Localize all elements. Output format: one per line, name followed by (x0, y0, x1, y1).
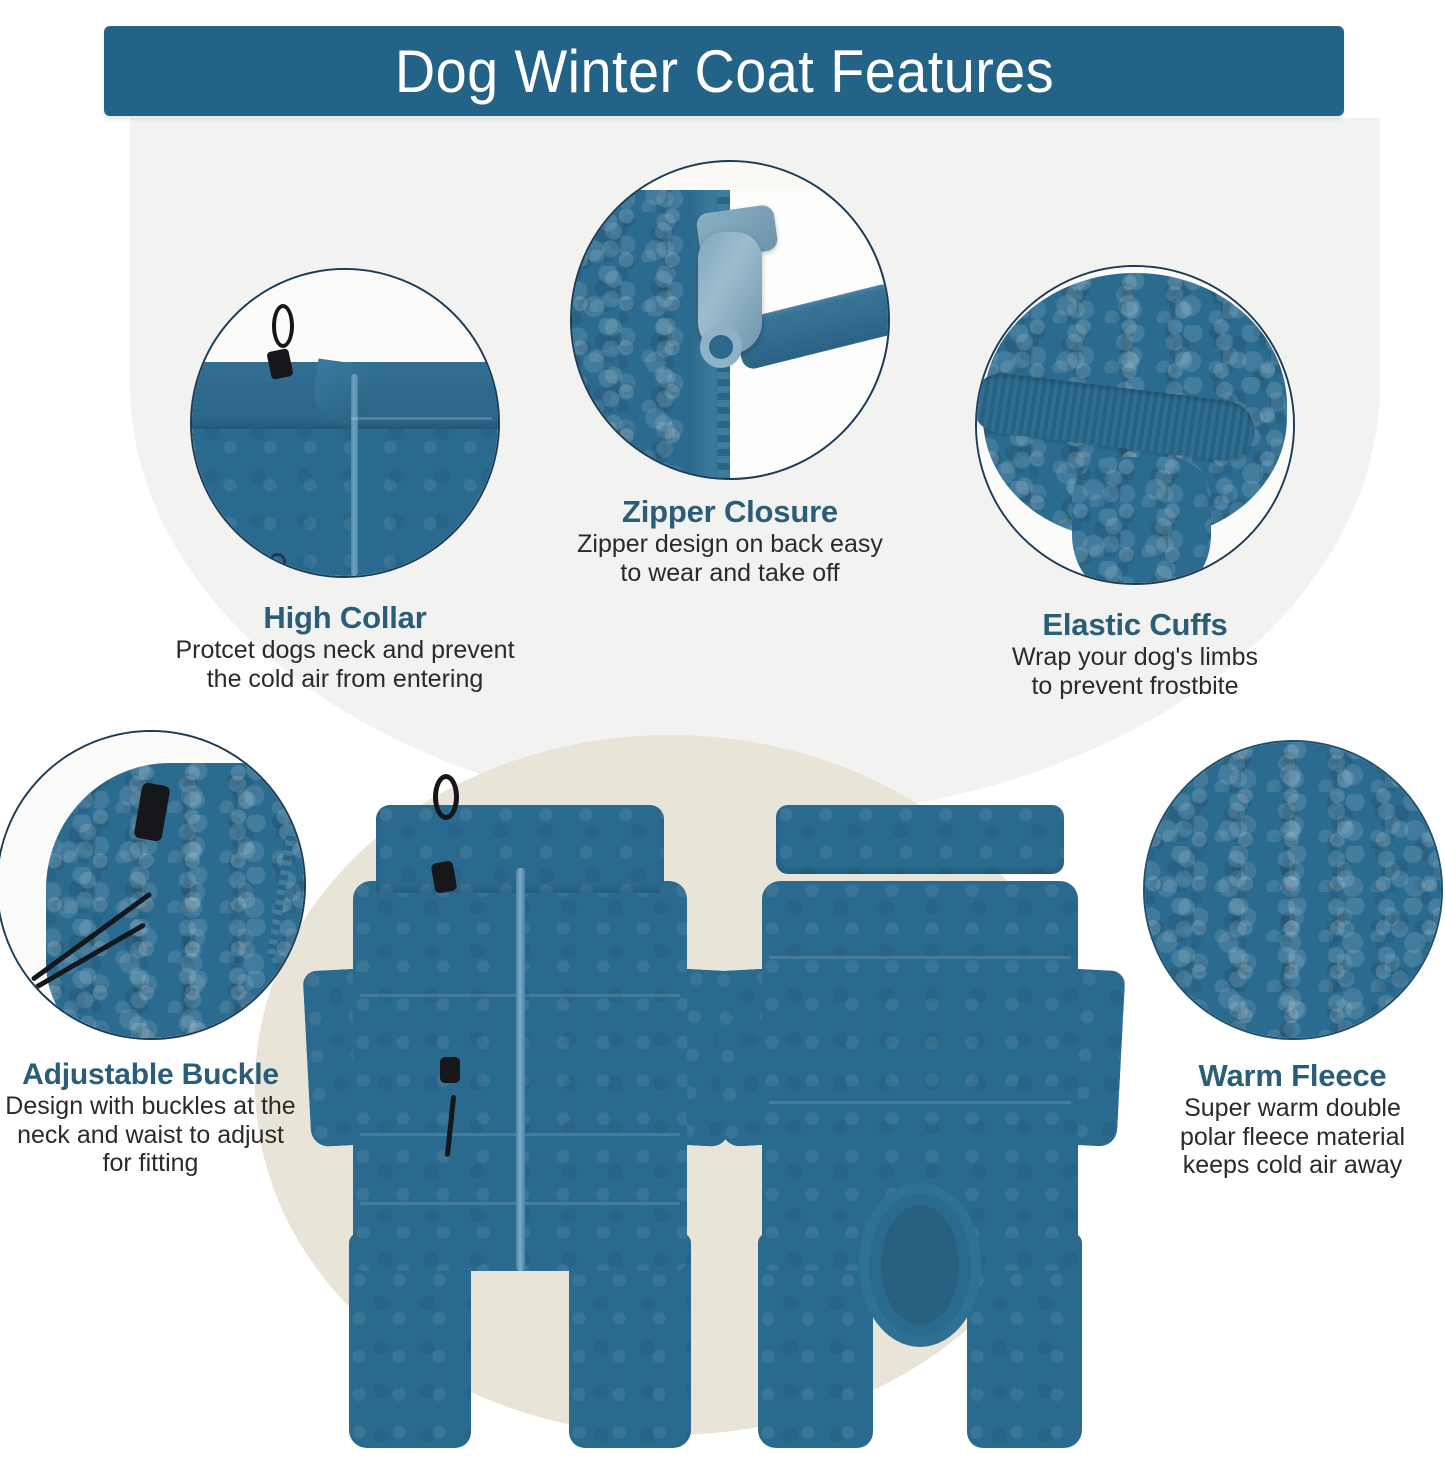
collar-seam (351, 417, 492, 420)
feature-desc-line: for fitting (0, 1149, 313, 1178)
feature-desc-warm-fleece: Super warm double polar fleece material … (1140, 1094, 1445, 1180)
feature-title-warm-fleece: Warm Fleece (1140, 1058, 1445, 1094)
adjustable-buckle-closeup-photo (0, 730, 306, 1040)
back-neck-band (776, 805, 1064, 874)
feature-desc-zipper-closure: Zipper design on back easy to wear and t… (530, 530, 930, 587)
feature-desc-line: Super warm double (1140, 1094, 1445, 1123)
feature-desc-line: to prevent frostbite (935, 672, 1335, 701)
dog-coat-back-view (740, 805, 1100, 1435)
feature-title-zipper-closure: Zipper Closure (530, 494, 930, 530)
collar-cord-lock-icon (430, 860, 457, 893)
photo-top-edge (572, 162, 888, 190)
feature-desc-elastic-cuffs: Wrap your dog's limbs to prevent frostbi… (935, 643, 1335, 700)
drawcord-loop-icon (272, 304, 294, 348)
feature-title-adjustable-buckle: Adjustable Buckle (0, 1058, 313, 1092)
cuff-tongue-fabric (1072, 457, 1211, 585)
drawcord-loop-icon (433, 774, 459, 820)
elastic-cuff-closeup-photo (975, 265, 1295, 585)
waist-cord-lock-icon (440, 1057, 460, 1083)
front-center-zipper (516, 868, 525, 1271)
feature-desc-line: Wrap your dog's limbs (935, 643, 1335, 672)
feature-title-high-collar: High Collar (150, 600, 540, 636)
header-banner: Dog Winter Coat Features (104, 26, 1344, 116)
zipper-pull-hole (700, 326, 742, 368)
fleece-texture-fill (1145, 742, 1441, 1038)
feature-zipper-closure: Zipper Closure Zipper design on back eas… (530, 160, 930, 587)
feature-desc-line: Protcet dogs neck and prevent (150, 636, 540, 665)
belly-opening (859, 1183, 981, 1347)
buckle-fabric (46, 763, 305, 1040)
zipper-closeup-photo (570, 160, 890, 480)
feature-desc-line: neck and waist to adjust (0, 1121, 313, 1150)
feature-desc-line: the cold air from entering (150, 665, 540, 694)
feature-desc-high-collar: Protcet dogs neck and prevent the cold a… (150, 636, 540, 693)
feature-adjustable-buckle: Adjustable Buckle Design with buckles at… (0, 730, 313, 1178)
page-title: Dog Winter Coat Features (394, 37, 1053, 106)
feature-desc-adjustable-buckle: Design with buckles at the neck and wais… (0, 1092, 313, 1178)
dog-coat-front-view (330, 805, 710, 1435)
feature-desc-line: to wear and take off (530, 559, 930, 588)
high-collar-closeup-photo (190, 268, 500, 578)
feature-title-elastic-cuffs: Elastic Cuffs (935, 607, 1335, 643)
zipper-line-icon (351, 374, 358, 576)
feature-elastic-cuffs: Elastic Cuffs Wrap your dog's limbs to p… (935, 265, 1335, 700)
fleece-texture-swatch (1143, 740, 1443, 1040)
feature-desc-line: Design with buckles at the (0, 1092, 313, 1121)
feature-desc-line: keeps cold air away (1140, 1151, 1445, 1180)
back-shoulder-seam (769, 956, 1071, 959)
feature-high-collar: High Collar Protcet dogs neck and preven… (150, 268, 540, 693)
snap-button-icon (269, 553, 286, 570)
feature-warm-fleece: Warm Fleece Super warm double polar flee… (1140, 740, 1445, 1180)
feature-desc-line: Zipper design on back easy (530, 530, 930, 559)
feature-desc-line: polar fleece material (1140, 1123, 1445, 1152)
back-waist-seam (769, 1101, 1071, 1104)
